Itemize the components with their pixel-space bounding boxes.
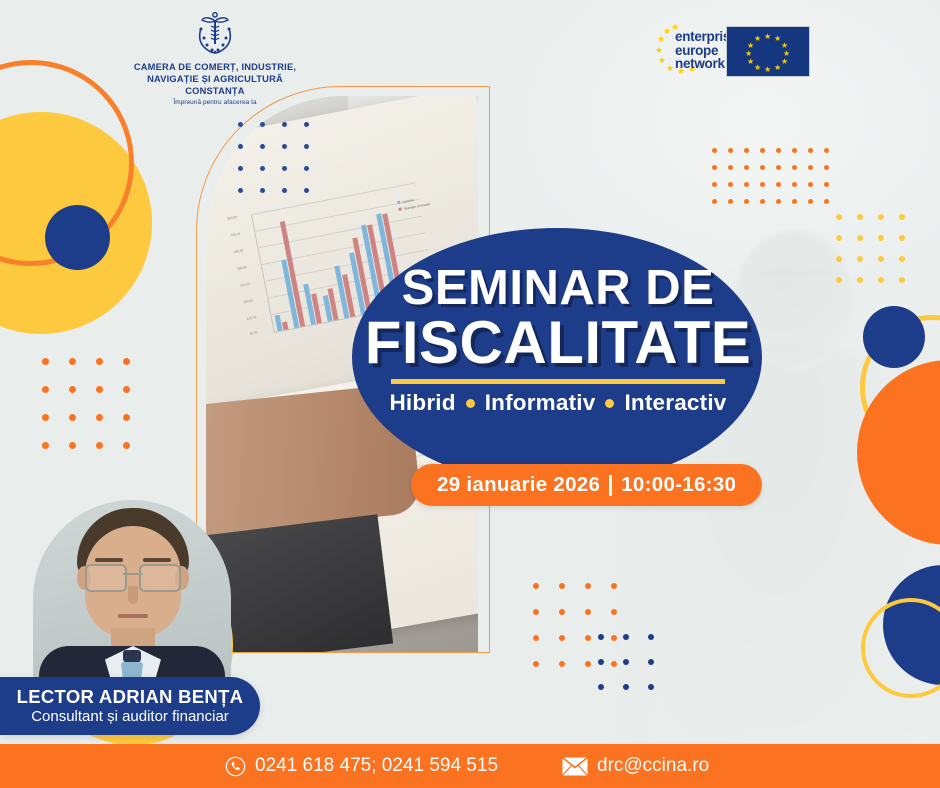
eu-flag-icon: ★ ★ ★ ★ ★ ★ ★ ★ ★ ★ ★ ★ [726,26,810,77]
caduceus-wreath-emblem-icon [191,10,239,58]
speaker-name-banner: LECTOR ADRIAN BENȚA Consultant și audito… [0,677,260,735]
bullet-dot-icon [466,399,475,408]
hero-subtitle: Hibrid Informativ Interactiv [362,390,754,416]
dot-grid-bottom-navy [598,634,673,709]
footer-email-text: drc@ccina.ro [597,755,709,777]
page-title-line1: SEMINAR DE [362,262,754,314]
footer-phone-text: 0241 618 475; 0241 594 515 [255,755,498,777]
navy-circle-topleft [45,205,110,270]
ccina-logo: CAMERA DE COMERȚ, INDUSTRIE, NAVIGAȚIE Ș… [125,10,305,106]
yellow-ring-right-lower [861,598,940,698]
portrait-tie-knot [123,650,141,662]
background-person-glasses [757,272,833,292]
poster-canvas: 900,00 700,00 450,00 390,00 310,00 200,0… [0,0,940,788]
subtitle-item-2: Informativ [485,390,596,416]
ccina-name-line1: CAMERA DE COMERȚ, INDUSTRIE, [125,61,305,73]
subtitle-item-1: Hibrid [389,390,455,416]
contact-footer-bar: 0241 618 475; 0241 594 515 drc@ccina.ro [0,744,940,788]
portrait-brow-right [143,558,171,562]
event-time: 10:00-16:30 [621,473,736,497]
title-underline-rule [391,379,725,384]
navy-circle-right-upper [863,306,925,368]
dot-grid-topright-orange [712,148,840,216]
dot-grid-left-orange [42,358,150,470]
badge-separator [609,475,612,496]
ccina-name-line2: NAVIGAȚIE ȘI AGRICULTURĂ CONSTANȚA [125,73,305,97]
hero-title-block: SEMINAR DE FISCALITATE Hibrid Informativ… [362,262,754,416]
ccina-name: CAMERA DE COMERȚ, INDUSTRIE, NAVIGAȚIE Ș… [125,61,305,97]
date-time-badge: 29 ianuarie 2026 10:00-16:30 [411,464,762,506]
envelope-icon [562,757,588,776]
subtitle-item-3: Interactiv [624,390,726,416]
phone-icon [225,756,246,777]
dot-grid-right-yellow [836,214,920,298]
speaker-portrait-photo [33,500,231,698]
bullet-dot-icon [605,399,614,408]
glasses-icon [85,564,181,588]
page-title-line2: FISCALITATE [362,314,754,372]
speaker-role: Consultant și auditor financiar [31,707,229,726]
footer-phone[interactable]: 0241 618 475; 0241 594 515 [225,755,498,777]
portrait-mouth [118,614,148,618]
event-date: 29 ianuarie 2026 [437,473,600,497]
photo-laptop [206,514,393,652]
ccina-tagline: Împreună pentru afacerea ta [125,99,305,106]
footer-email[interactable]: drc@ccina.ro [562,755,709,777]
portrait-brow-left [95,558,123,562]
dot-grid-photo-navy [238,122,326,210]
portrait-nose [128,586,138,604]
speaker-name: LECTOR ADRIAN BENȚA [17,686,244,707]
